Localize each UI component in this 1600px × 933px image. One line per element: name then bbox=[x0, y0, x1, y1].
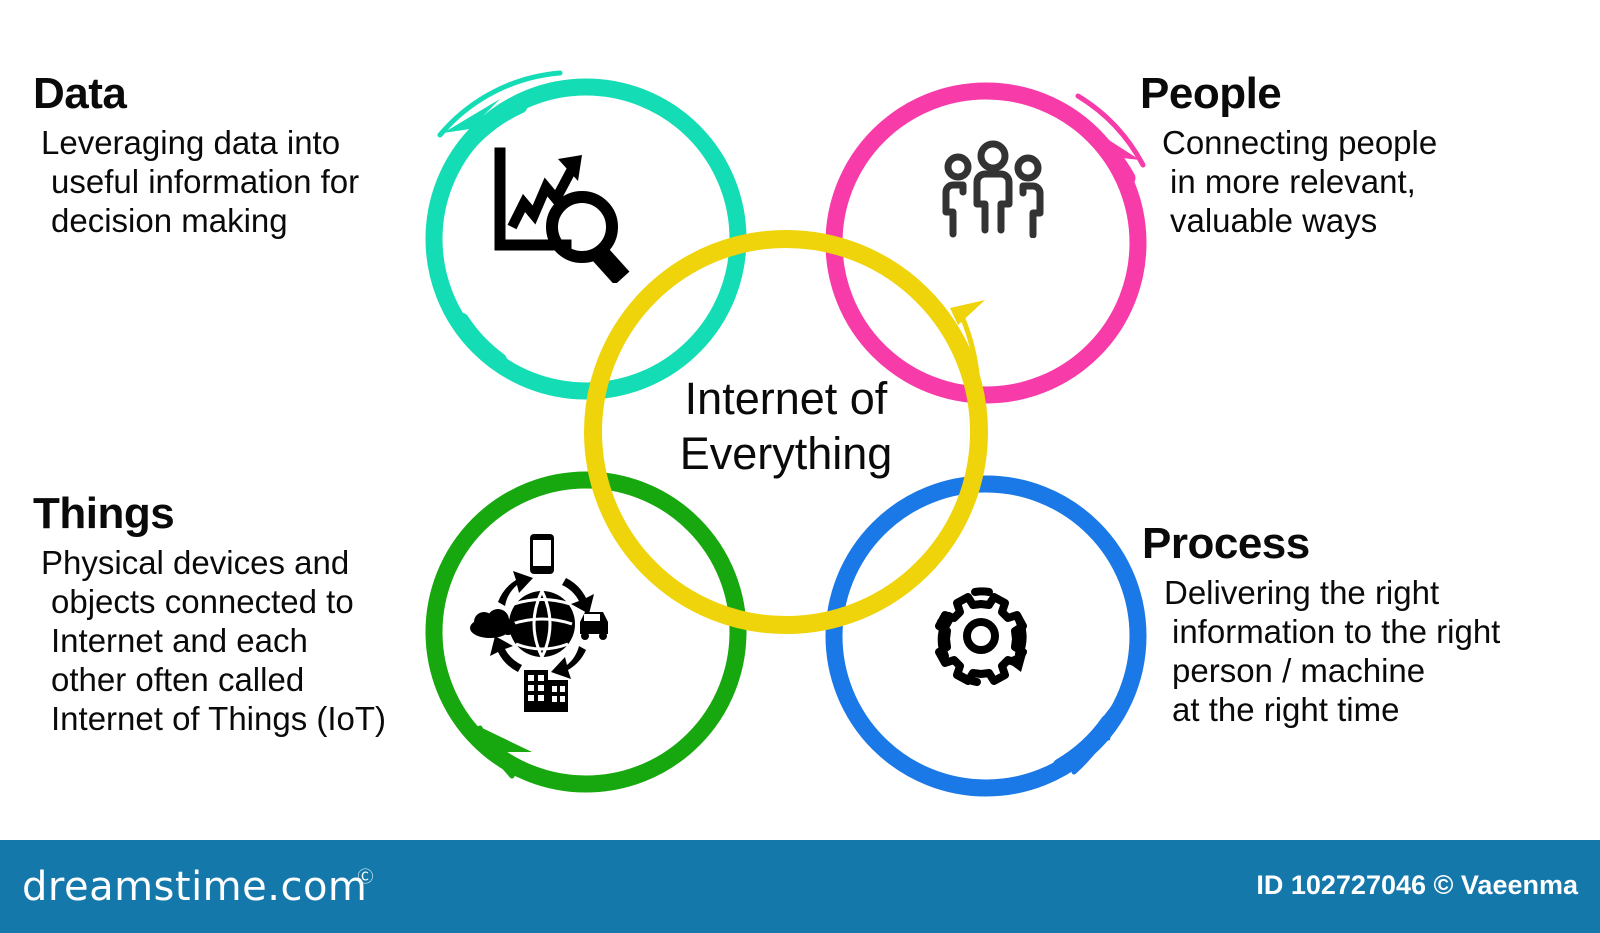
quadrant-label-things: Things Physical devices and objects conn… bbox=[33, 492, 433, 739]
description-people: Connecting people in more relevant, valu… bbox=[1140, 124, 1560, 241]
heading-process: Process bbox=[1142, 522, 1572, 566]
chart-magnifier-icon bbox=[486, 143, 638, 283]
watermark-footer: dreamstime.comⒸ ID 102727046 © Vaeenma bbox=[0, 840, 1600, 933]
people-group-icon bbox=[937, 140, 1049, 238]
registered-mark-icon: Ⓒ bbox=[357, 867, 374, 886]
dreamstime-logo-text: dreamstime.com bbox=[22, 864, 367, 910]
quadrant-label-process: Process Delivering the right information… bbox=[1142, 522, 1572, 730]
quadrant-label-data: Data Leveraging data into useful informa… bbox=[33, 72, 423, 241]
ring-people bbox=[834, 91, 1143, 395]
heading-data: Data bbox=[33, 72, 423, 116]
heading-things: Things bbox=[33, 492, 433, 536]
dreamstime-logo: dreamstime.comⒸ bbox=[22, 864, 384, 910]
iot-globe-icon bbox=[468, 528, 616, 718]
description-things: Physical devices and objects connected t… bbox=[33, 544, 433, 739]
description-process: Delivering the right information to the … bbox=[1142, 574, 1572, 730]
quadrant-label-people: People Connecting people in more relevan… bbox=[1140, 72, 1560, 241]
center-title: Internet of Everything bbox=[600, 372, 972, 482]
image-credit: ID 102727046 © Vaeenma bbox=[1256, 870, 1578, 901]
description-data: Leveraging data into useful information … bbox=[33, 124, 423, 241]
gear-cycle-icon bbox=[915, 572, 1047, 700]
heading-people: People bbox=[1140, 72, 1560, 116]
diagram-canvas: Data Leveraging data into useful informa… bbox=[0, 0, 1600, 840]
